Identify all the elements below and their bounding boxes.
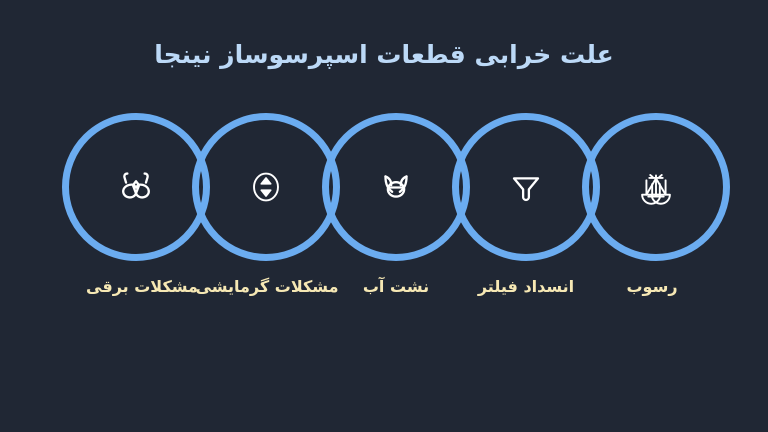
process-chain [62, 113, 710, 261]
step-node-2[interactable] [192, 113, 340, 261]
step-node-3[interactable] [322, 113, 470, 261]
scale-balance-icon [633, 164, 679, 210]
step-node-5[interactable] [582, 113, 730, 261]
step-node-4[interactable] [452, 113, 600, 261]
step-node-1[interactable] [62, 113, 210, 261]
step-labels: مشکلات برقی مشکلات گرمایشی نشت آب انسداد… [0, 276, 768, 316]
infographic-slide: علت خرابی قطعات اسپرسوساز نینجا [0, 0, 768, 432]
water-leak-pipe-icon [373, 164, 419, 210]
page-title: علت خرابی قطعات اسپرسوساز نینجا [0, 38, 768, 72]
thermostat-up-down-icon [243, 164, 289, 210]
step-label-5: رسوب [578, 276, 726, 298]
funnel-filter-icon [503, 164, 549, 210]
electrical-plug-icon [113, 164, 159, 210]
